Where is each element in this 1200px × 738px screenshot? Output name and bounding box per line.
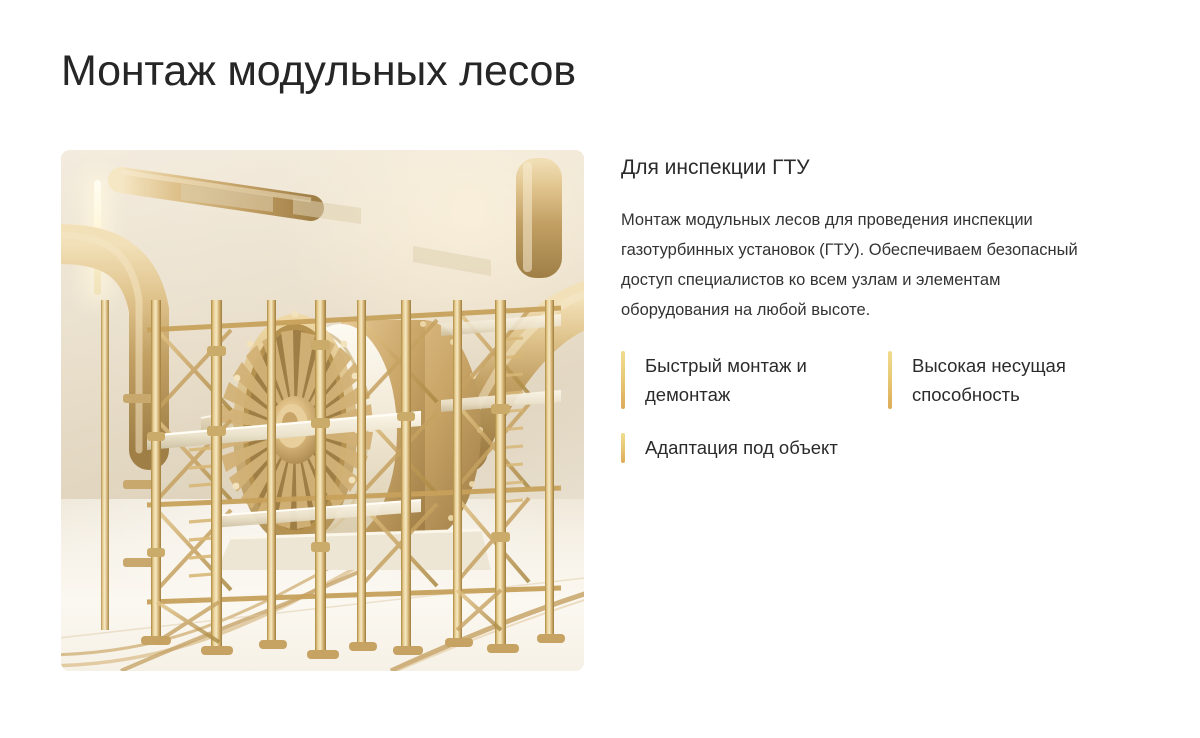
info-title: Для инспекции ГТУ: [621, 153, 1121, 183]
content-area: Для инспекции ГТУ Монтаж модульных лесов…: [0, 150, 1200, 680]
page-title: Монтаж модульных лесов: [61, 44, 576, 98]
hero-image: [61, 150, 584, 671]
feature-item: Адаптация под объект: [621, 433, 1121, 463]
info-column: Для инспекции ГТУ Монтаж модульных лесов…: [621, 150, 1121, 463]
slide-root: Монтаж модульных лесов: [0, 0, 1200, 738]
modular-scaffolding: [61, 150, 584, 671]
feature-item: Быстрый монтаж и демонтаж: [621, 351, 888, 409]
feature-list: Быстрый монтаж и демонтаж Высокая несуща…: [621, 351, 1126, 463]
info-description: Монтаж модульных лесов для проведения ин…: [621, 205, 1107, 325]
scene-background: [61, 150, 584, 671]
feature-label: Высокая несущая способность: [892, 351, 1126, 409]
feature-label: Быстрый монтаж и демонтаж: [625, 351, 888, 409]
feature-item: Высокая несущая способность: [888, 351, 1126, 409]
feature-label: Адаптация под объект: [625, 433, 838, 462]
